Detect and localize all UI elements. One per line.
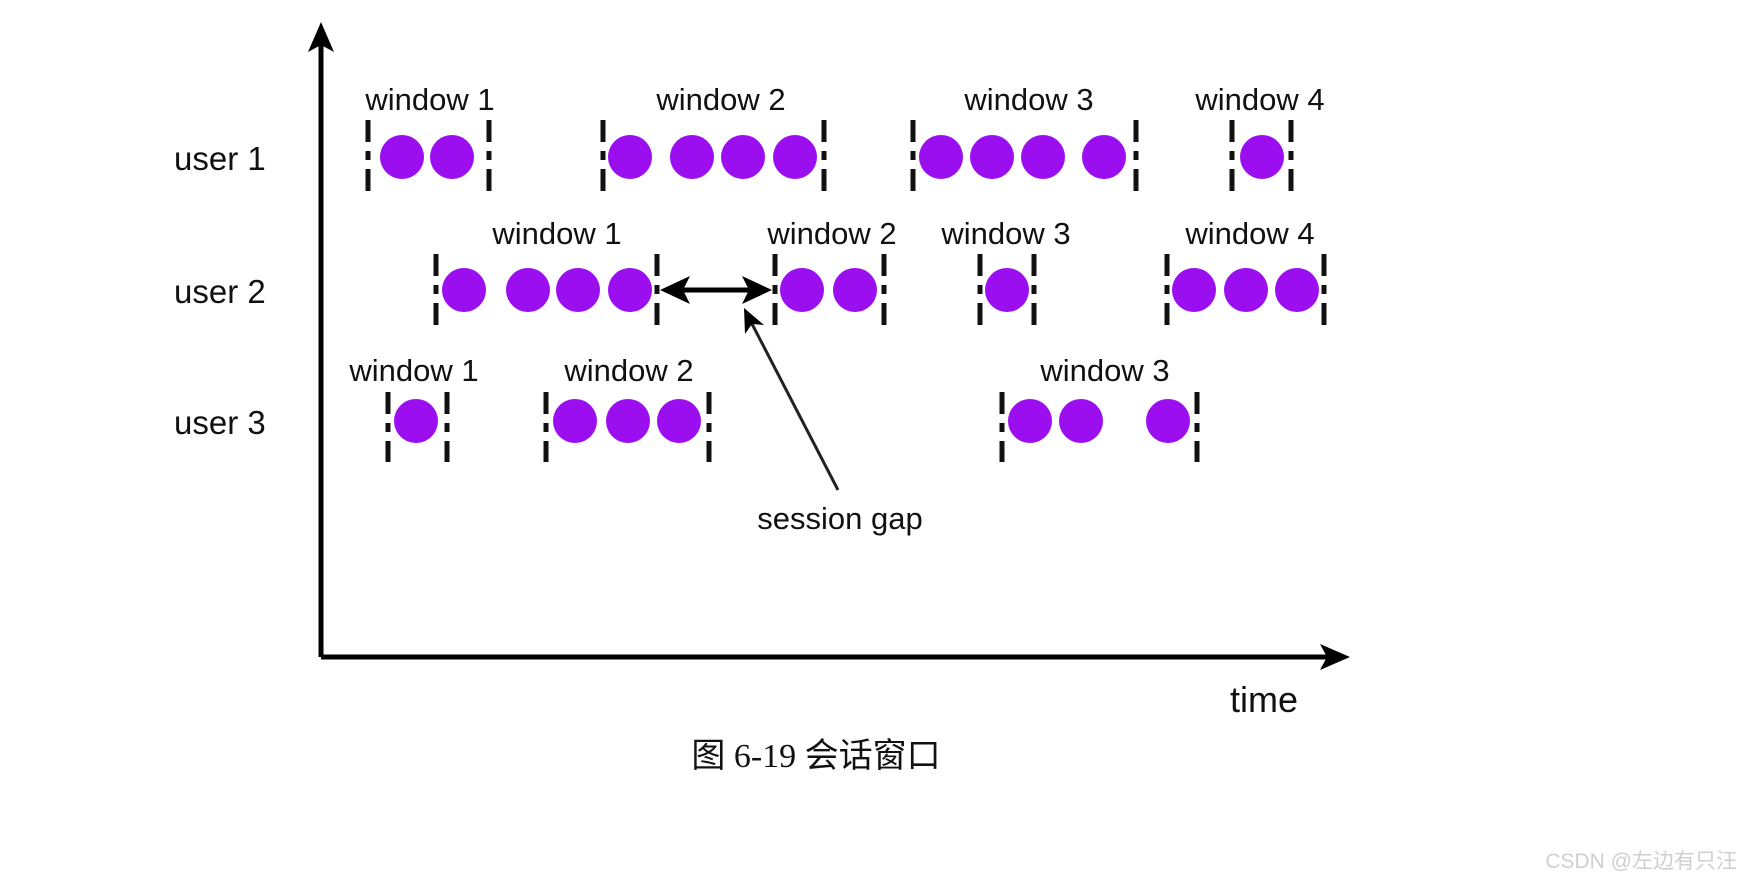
window-label-u2-w3: window 3: [940, 216, 1070, 251]
event-dot: [442, 268, 486, 312]
event-dot: [919, 135, 963, 179]
window-label-u3-w1: window 1: [348, 353, 478, 388]
row-label-user-3: user 3: [174, 404, 266, 441]
figure-caption: 图 6-19 会话窗口: [691, 737, 940, 775]
row-user-2: user 2 window 1 window 2 window: [174, 216, 1324, 325]
session-gap-leader-line: [750, 320, 838, 490]
x-axis-label: time: [1230, 679, 1298, 720]
event-dot: [1021, 135, 1065, 179]
window-label-u1-w4: window 4: [1194, 82, 1324, 117]
session-window-diagram: user 1 window 1 window 2 window 3: [0, 0, 1749, 884]
window-group-u2-w3: window 3: [940, 216, 1070, 325]
window-group-u2-w4: window 4: [1167, 216, 1324, 325]
event-dot: [380, 135, 424, 179]
session-gap-arrow: [660, 276, 772, 304]
event-dot: [833, 268, 877, 312]
event-dot: [1059, 399, 1103, 443]
row-user-3: user 3 window 1 window 2 window 3: [174, 353, 1197, 462]
window-label-u3-w2: window 2: [563, 353, 693, 388]
event-dot: [1224, 268, 1268, 312]
window-label-u2-w1: window 1: [491, 216, 621, 251]
window-group-u1-w2: window 2: [603, 82, 824, 192]
event-dot: [506, 268, 550, 312]
event-dot: [608, 135, 652, 179]
event-dot: [773, 135, 817, 179]
window-label-u1-w2: window 2: [655, 82, 785, 117]
event-dot: [608, 268, 652, 312]
event-dot: [430, 135, 474, 179]
window-label-u3-w3: window 3: [1039, 353, 1169, 388]
event-dot: [1146, 399, 1190, 443]
event-dot: [670, 135, 714, 179]
window-group-u3-w1: window 1: [348, 353, 478, 462]
row-label-user-2: user 2: [174, 273, 266, 310]
window-group-u3-w3: window 3: [1002, 353, 1197, 462]
event-dot: [657, 399, 701, 443]
row-label-user-1: user 1: [174, 140, 266, 177]
event-dot: [780, 268, 824, 312]
window-label-u1-w3: window 3: [963, 82, 1093, 117]
window-group-u1-w3: window 3: [913, 82, 1136, 192]
window-group-u1-w4: window 4: [1194, 82, 1324, 192]
window-group-u1-w1: window 1: [364, 82, 494, 192]
window-group-u3-w2: window 2: [546, 353, 709, 462]
csdn-watermark: CSDN @左边有只汪: [1545, 850, 1737, 873]
event-dot: [1172, 268, 1216, 312]
window-label-u2-w4: window 4: [1184, 216, 1314, 251]
event-dot: [985, 268, 1029, 312]
event-dot: [721, 135, 765, 179]
event-dot: [553, 399, 597, 443]
event-dot: [1275, 268, 1319, 312]
event-dot: [394, 399, 438, 443]
event-dot: [1082, 135, 1126, 179]
event-dot: [970, 135, 1014, 179]
window-group-u2-w1: window 1: [436, 216, 657, 325]
event-dot: [1008, 399, 1052, 443]
session-gap-label: session gap: [757, 501, 922, 536]
row-user-1: user 1 window 1 window 2 window 3: [174, 82, 1325, 192]
event-dot: [606, 399, 650, 443]
window-group-u2-w2: window 2: [766, 216, 896, 325]
event-dot: [556, 268, 600, 312]
window-label-u2-w2: window 2: [766, 216, 896, 251]
event-dot: [1240, 135, 1284, 179]
axes-group: [308, 22, 1350, 670]
session-gap-annotation: session gap: [744, 308, 923, 536]
window-label-u1-w1: window 1: [364, 82, 494, 117]
